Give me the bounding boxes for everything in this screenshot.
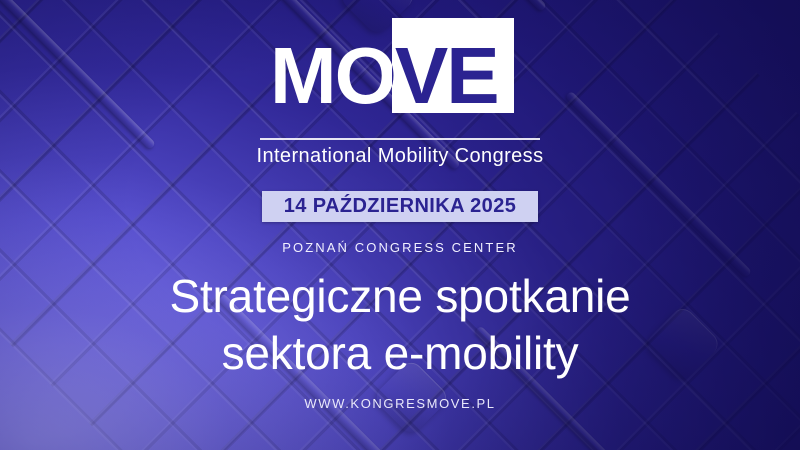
headline-line-1: Strategiczne spotkanie xyxy=(170,270,631,322)
website-url[interactable]: WWW.KONGRESMOVE.PL xyxy=(0,396,800,411)
divider-line xyxy=(260,138,540,140)
promo-banner: MOVE MOVE International Mobility Congres… xyxy=(0,0,800,450)
banner-content: MOVE MOVE International Mobility Congres… xyxy=(0,0,800,450)
logo-white-block: MOVE xyxy=(392,18,514,113)
headline: Strategiczne spotkanie sektora e-mobilit… xyxy=(0,268,800,382)
headline-line-2: sektora e-mobility xyxy=(0,325,800,382)
move-logo: MOVE MOVE xyxy=(0,18,800,118)
event-subtitle: International Mobility Congress xyxy=(0,145,800,168)
event-venue: POZNAŃ CONGRESS CENTER xyxy=(0,240,800,255)
event-date-text: 14 PAŹDZIERNIKA 2025 xyxy=(284,195,517,218)
logo-wordmark-inverted: MOVE xyxy=(392,40,498,112)
event-date-badge: 14 PAŹDZIERNIKA 2025 xyxy=(262,191,538,222)
